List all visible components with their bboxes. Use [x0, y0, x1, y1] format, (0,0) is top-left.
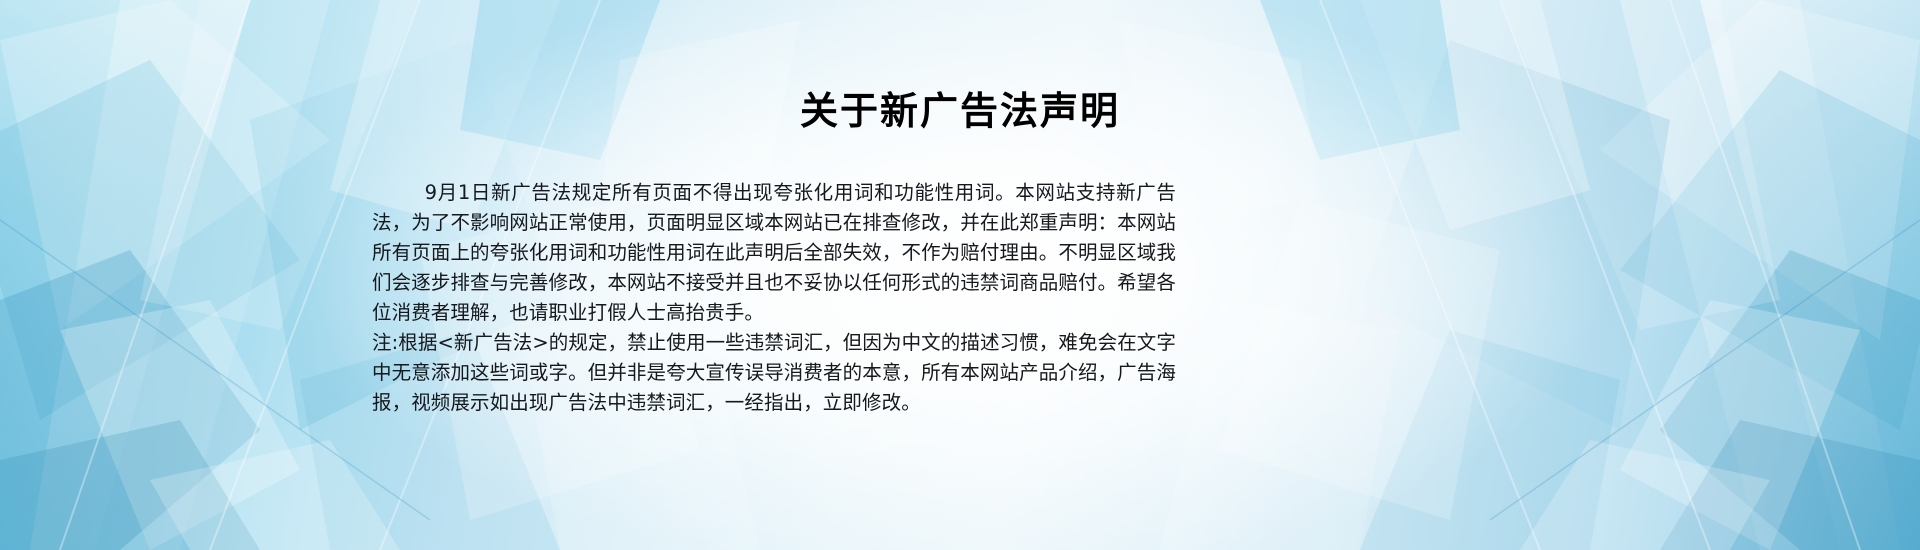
page-title: 关于新广告法声明 — [0, 88, 1920, 134]
statement-paragraph-1: 9月1日新广告法规定所有页面不得出现夸张化用词和功能性用词。本网站支持新广告法，… — [372, 178, 1176, 328]
statement-body: 9月1日新广告法规定所有页面不得出现夸张化用词和功能性用词。本网站支持新广告法，… — [372, 178, 1176, 418]
statement-paragraph-2: 注:根据<新广告法>的规定，禁止使用一些违禁词汇，但因为中文的描述习惯，难免会在… — [372, 328, 1176, 418]
statement-content: 关于新广告法声明 9月1日新广告法规定所有页面不得出现夸张化用词和功能性用词。本… — [0, 0, 1920, 550]
advertising-law-statement-banner: 关于新广告法声明 9月1日新广告法规定所有页面不得出现夸张化用词和功能性用词。本… — [0, 0, 1920, 550]
